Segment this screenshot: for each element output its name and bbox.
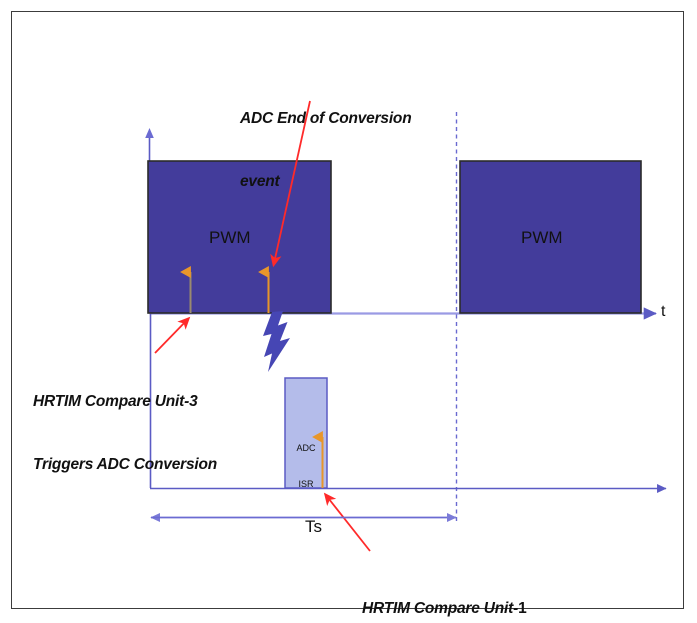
hrtim-cmp3-leader-arrow (155, 318, 189, 353)
lightning-bolt-icon (263, 311, 290, 372)
hrtim-cmp3-annotation-line2: Triggers ADC Conversion (33, 454, 217, 475)
adc-eoc-annotation-line2: event (240, 171, 411, 192)
adc-eoc-annotation-line1: ADC End of Conversion (240, 108, 411, 129)
time-axis-label: t (661, 303, 665, 321)
adc-isr-label-line2: ISR (285, 478, 327, 490)
period-label: Ts (305, 517, 322, 537)
hrtim-cmp1-leader-arrow (325, 494, 370, 551)
pwm-label-2: PWM (521, 228, 563, 248)
isr-axes (150, 314, 666, 489)
hrtim-cmp3-annotation-line1: HRTIM Compare Unit-3 (33, 391, 217, 412)
hrtim-cmp1-annotation-line1-text: HRTIM Compare Unit- (362, 600, 518, 617)
hrtim-cmp1-annotation-line1: HRTIM Compare Unit-1 (362, 598, 527, 619)
adc-isr-label-line1: ADC (285, 442, 327, 454)
hrtim-cmp1-annotation-unit-number: 1 (518, 600, 526, 617)
timing-diagram-figure: PWM PWM t ADC ISR Ts ADC End of Conversi… (0, 0, 697, 623)
